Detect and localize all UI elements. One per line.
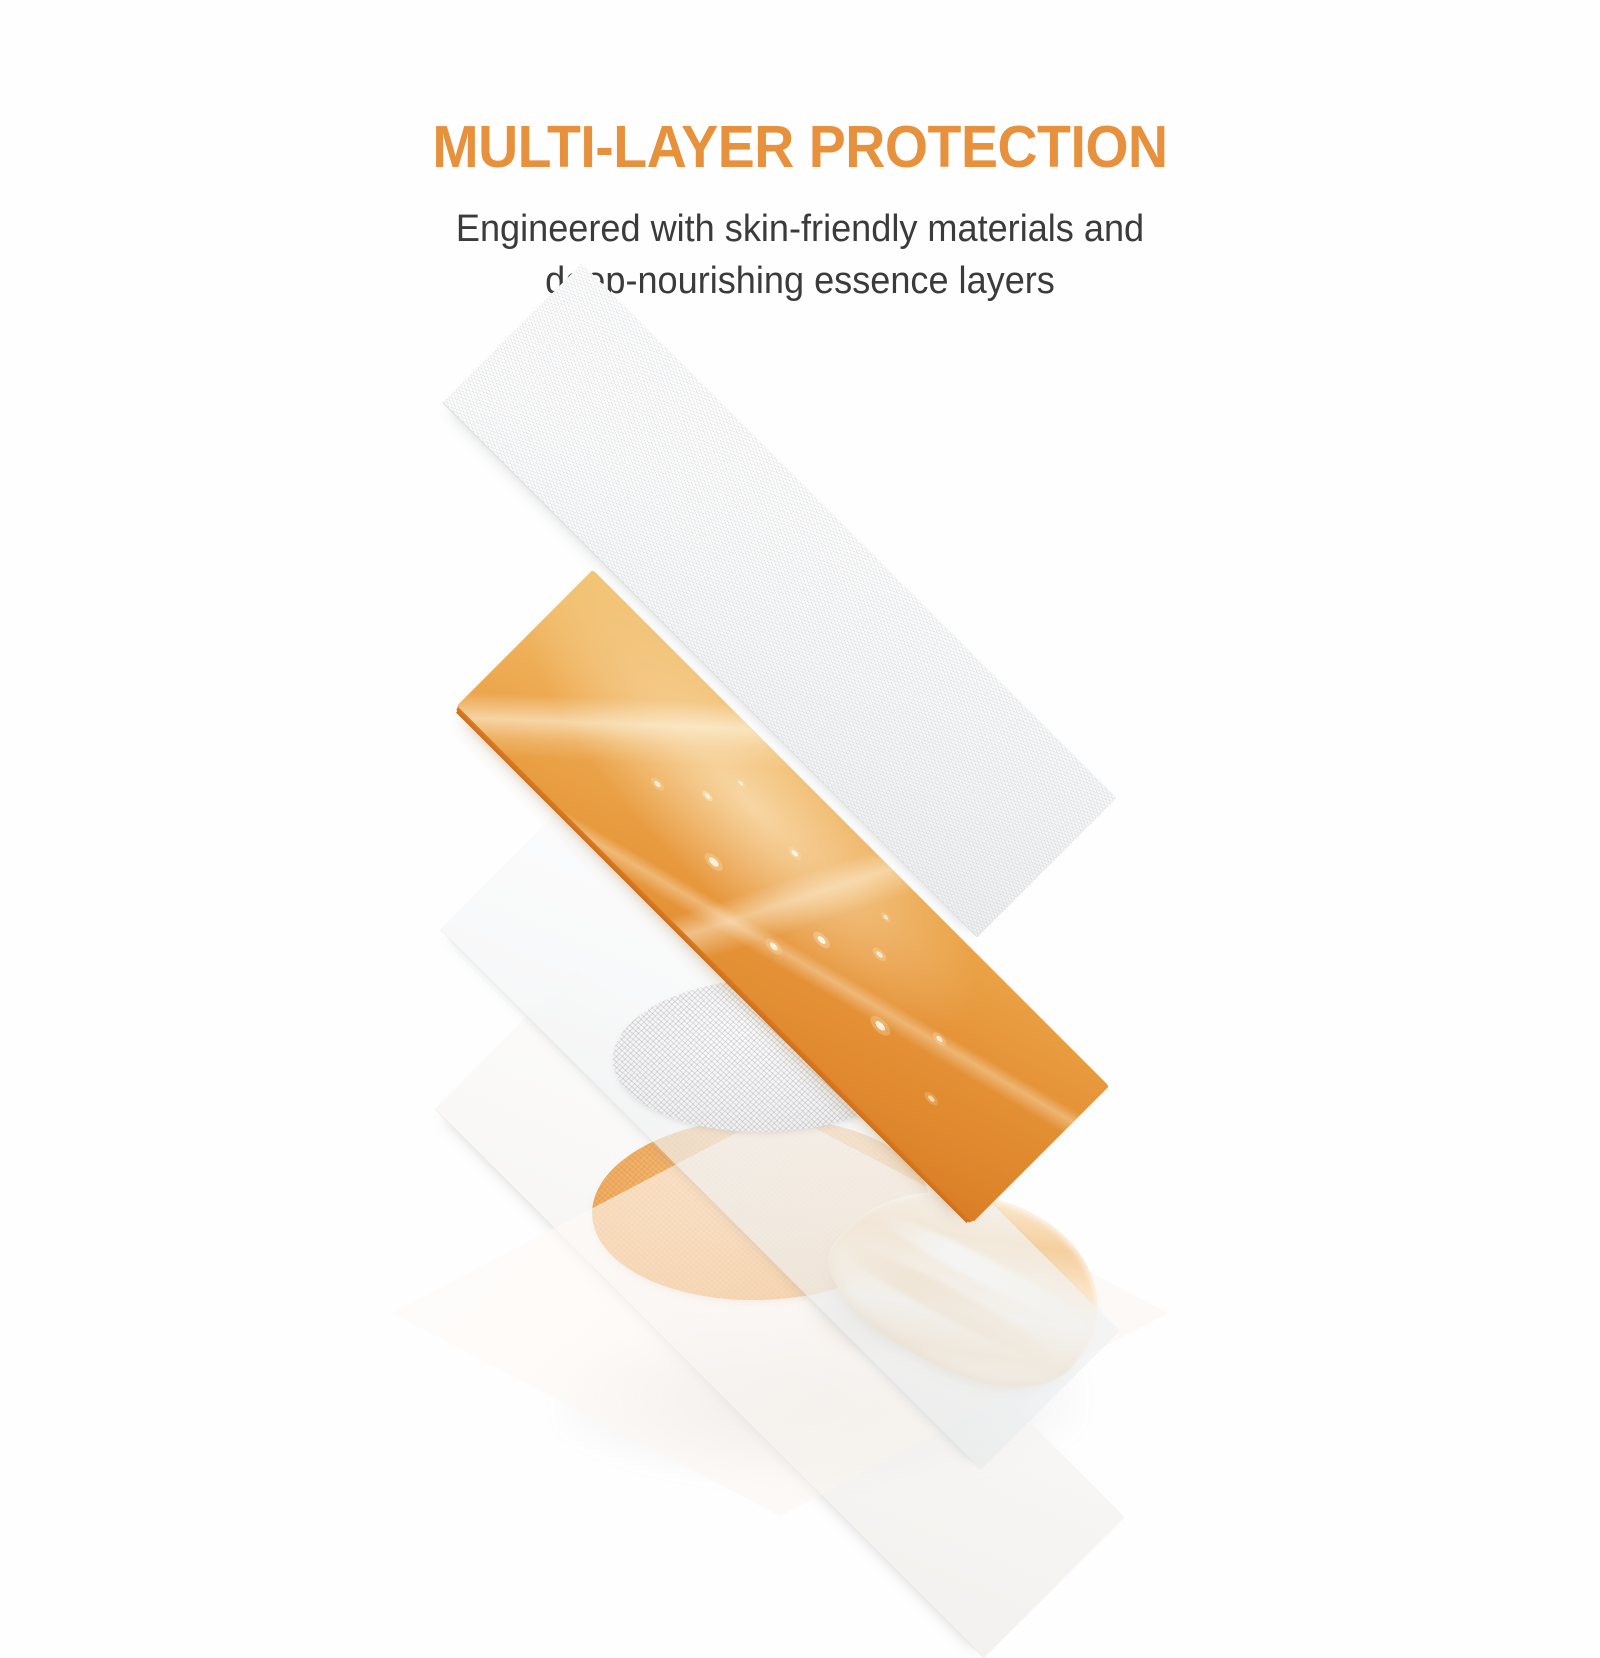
- layer-nonwoven-fabric: [402, 400, 1158, 800]
- header-block: MULTI-LAYER PROTECTION Engineered with s…: [0, 0, 1600, 307]
- subtitle-line-2: deep-nourishing essence layers: [40, 255, 1560, 307]
- subtitle-line-1: Engineered with skin-friendly materials …: [40, 203, 1560, 255]
- page-title: MULTI-LAYER PROTECTION: [48, 118, 1552, 177]
- page-subtitle: Engineered with skin-friendly materials …: [40, 203, 1560, 307]
